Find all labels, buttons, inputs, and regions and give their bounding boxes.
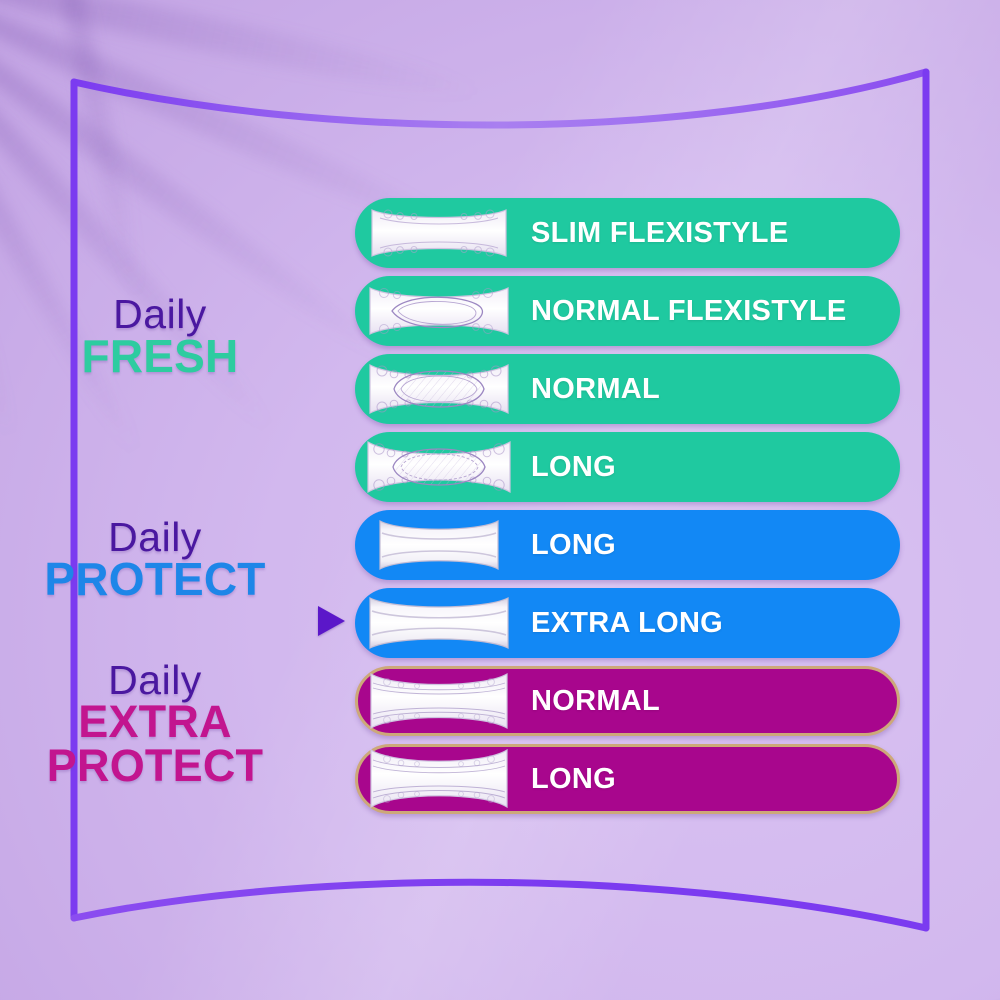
product-row-label: NORMAL FLEXISTYLE xyxy=(531,295,847,328)
product-row-label: NORMAL xyxy=(531,373,660,406)
product-row-normal-extra-protect[interactable]: NORMAL xyxy=(355,666,900,736)
selection-pointer-icon xyxy=(318,606,345,636)
pad-normal-lace-icon xyxy=(361,278,517,344)
product-row-long-protect[interactable]: LONG xyxy=(355,510,900,580)
pad-normal-lace-gold-icon xyxy=(361,668,517,734)
pad-long-lace-gold-icon xyxy=(361,746,517,812)
pad-slim-lace-icon xyxy=(361,200,517,266)
product-row-label: LONG xyxy=(531,529,616,562)
group-daily-text: Daily xyxy=(5,517,305,557)
group-label-extra-protect: Daily EXTRA PROTECT xyxy=(5,660,305,788)
product-row-normal-fresh[interactable]: NORMAL xyxy=(355,354,900,424)
product-row-extra-long-protect[interactable]: EXTRA LONG xyxy=(355,588,900,658)
pad-normal-floral-icon xyxy=(361,356,517,422)
product-row-label: EXTRA LONG xyxy=(531,607,723,640)
pad-long-floral-icon xyxy=(361,434,517,500)
product-range-chart: Daily FRESH Daily PROTECT Daily EXTRA PR… xyxy=(0,0,1000,1000)
product-row-long-extra-protect[interactable]: LONG xyxy=(355,744,900,814)
group-name-protect-2: PROTECT xyxy=(5,744,305,788)
product-row-slim-flexistyle[interactable]: SLIM FLEXISTYLE xyxy=(355,198,900,268)
group-label-fresh: Daily FRESH xyxy=(10,294,310,379)
product-row-normal-flexistyle[interactable]: NORMAL FLEXISTYLE xyxy=(355,276,900,346)
product-row-long-fresh[interactable]: LONG xyxy=(355,432,900,502)
pad-long-plain-icon xyxy=(361,512,517,578)
group-label-protect: Daily PROTECT xyxy=(5,517,305,602)
product-row-label: SLIM FLEXISTYLE xyxy=(531,217,788,250)
group-daily-text: Daily xyxy=(5,660,305,700)
group-daily-text: Daily xyxy=(10,294,310,334)
group-name-protect: PROTECT xyxy=(5,557,305,602)
product-row-label: NORMAL xyxy=(531,685,660,718)
pad-extra-long-plain-icon xyxy=(361,590,517,656)
product-row-label: LONG xyxy=(531,763,616,796)
group-name-extra: EXTRA xyxy=(5,700,305,744)
product-row-label: LONG xyxy=(531,451,616,484)
group-name-fresh: FRESH xyxy=(10,334,310,379)
